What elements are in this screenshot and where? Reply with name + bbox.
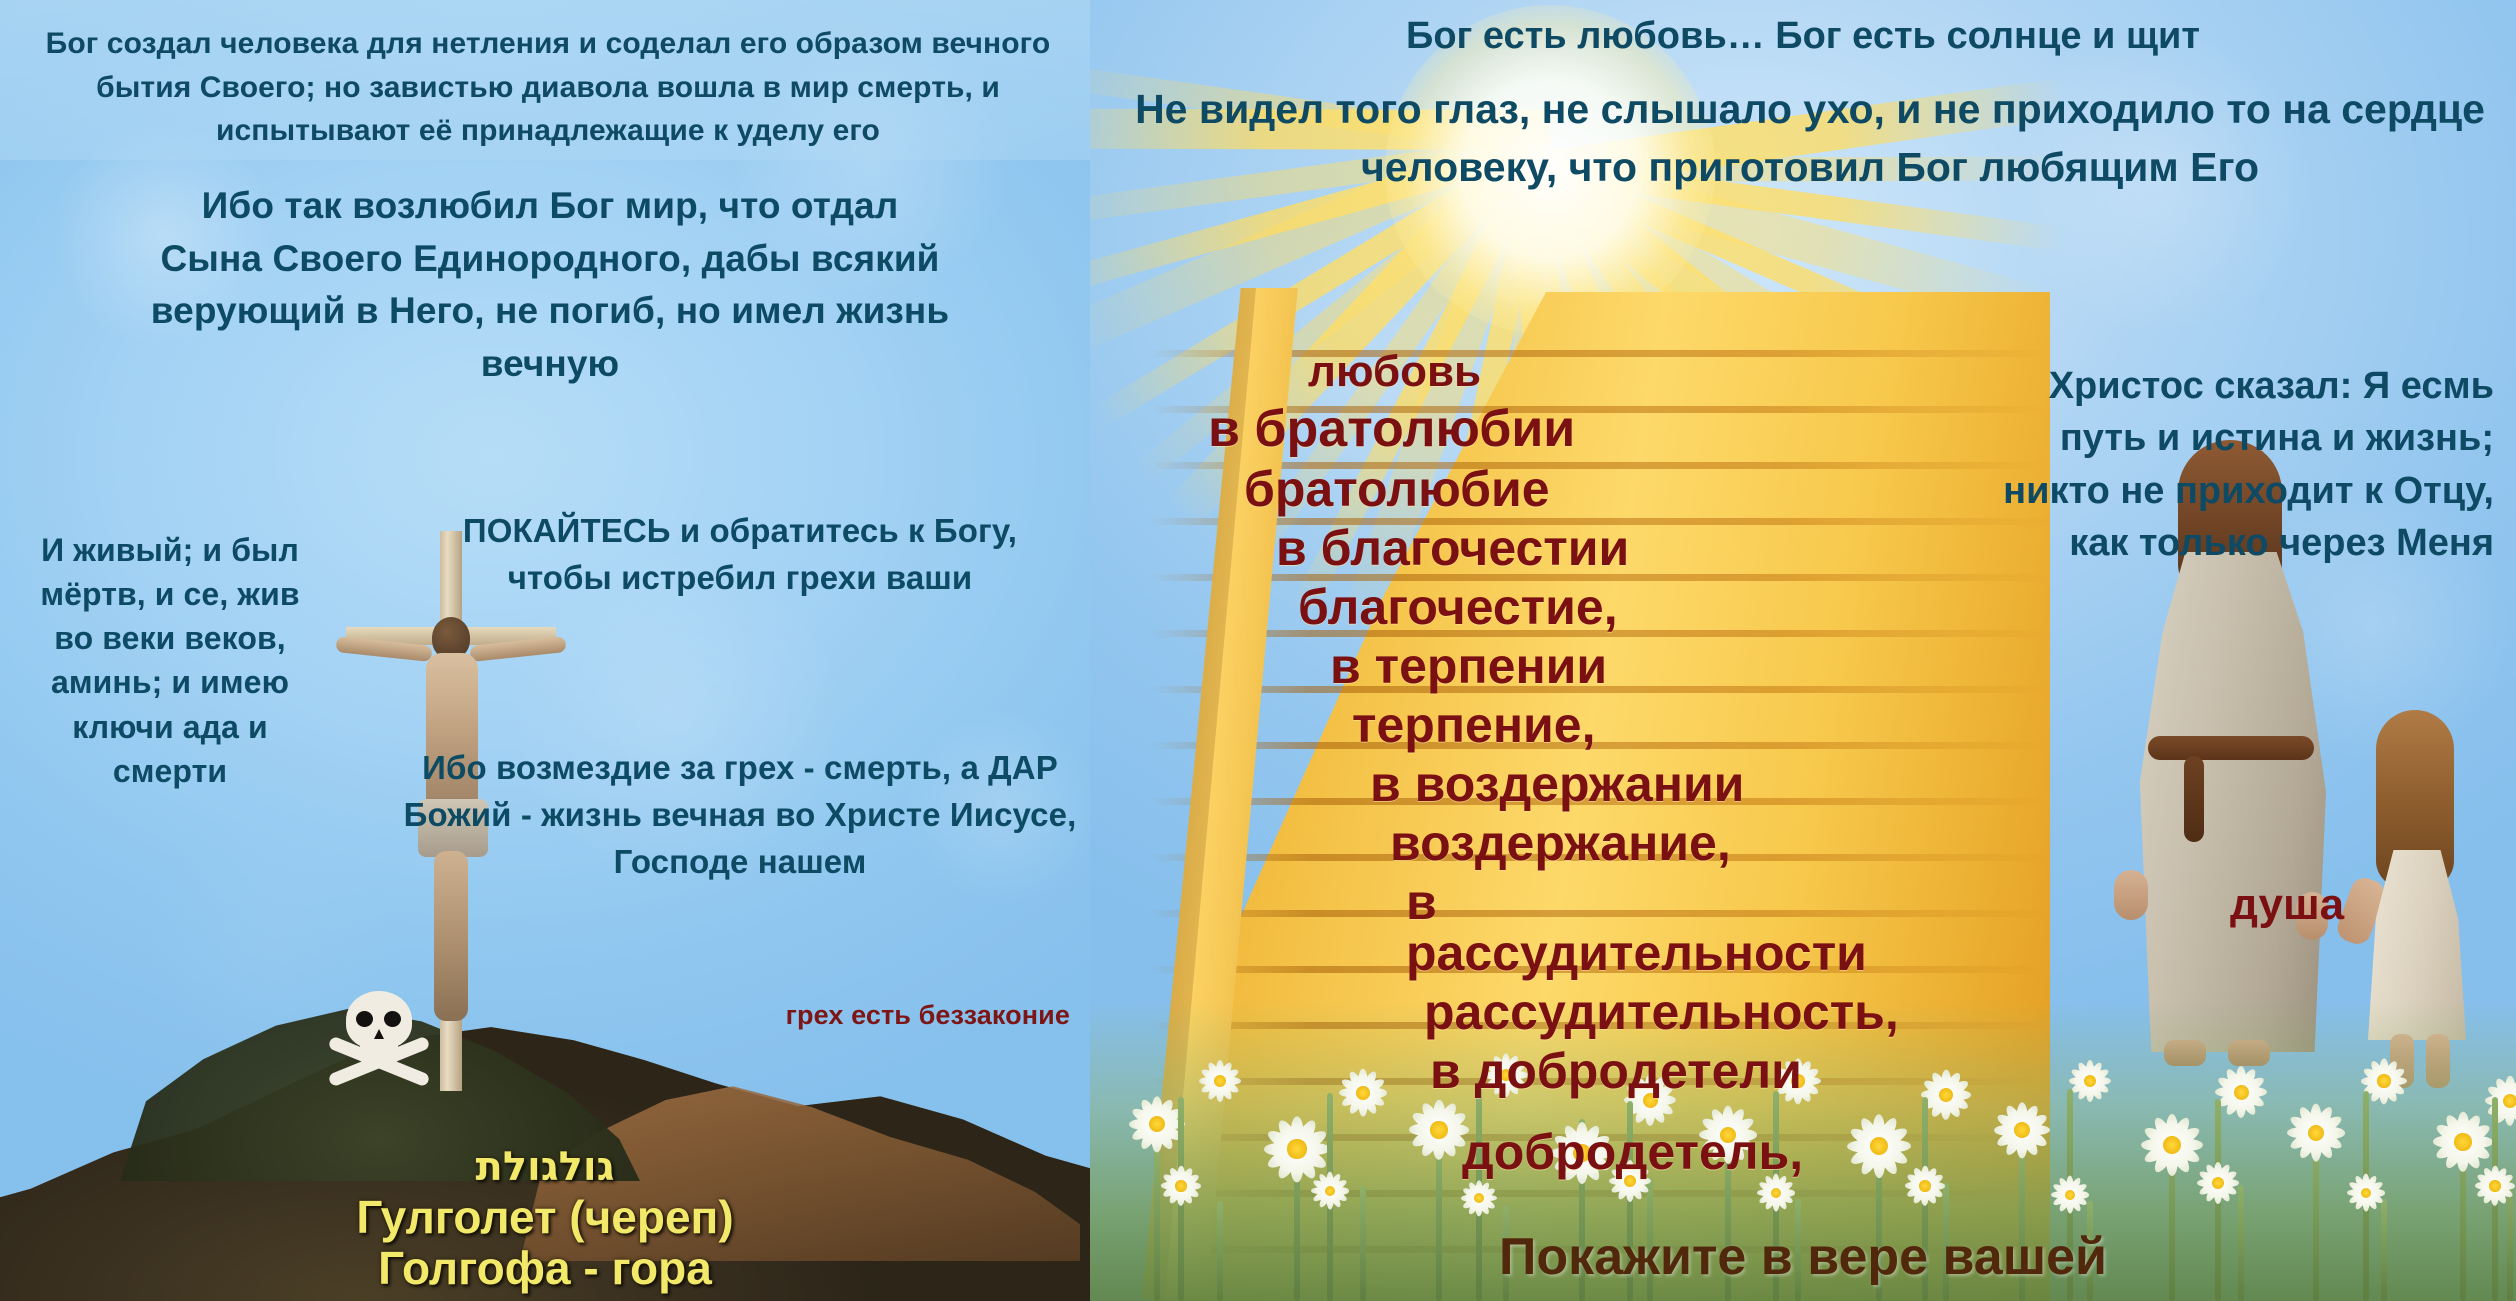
daisy-center xyxy=(1919,1180,1930,1191)
daisy-flower xyxy=(2216,1067,2266,1117)
daisy-flower xyxy=(2434,1113,2492,1171)
label-soul: душа xyxy=(2230,880,2344,930)
skull-jaw xyxy=(360,1043,398,1061)
daisy-center xyxy=(2212,1177,2224,1189)
daisy-flower xyxy=(2476,1167,2514,1205)
golgotha-hebrew-label: גולגולת xyxy=(0,1145,1090,1190)
verse-repent-text: ПОКАЙТЕСЬ и обратитесь к Богу, чтобы ист… xyxy=(420,508,1060,602)
virtue-step: в добродетели xyxy=(1430,1046,1880,1097)
verse-eye-has-not-seen-text: Не видел того глаз, не слышало ухо, и не… xyxy=(1120,80,2500,196)
verse-john-3-16-text: Ибо так возлюбил Бог мир, что отдал Сына… xyxy=(150,180,950,390)
jesus-robe xyxy=(2136,552,2326,1052)
virtue-step: в братолюбии xyxy=(1208,403,1880,456)
virtue-step: рассудительность, xyxy=(1424,987,1880,1038)
daisy-flower xyxy=(2288,1105,2344,1161)
virtue-step: братолюбие xyxy=(1244,464,1880,515)
daisy-center xyxy=(2489,1180,2500,1191)
daisy-flower xyxy=(1312,1173,1348,1209)
virtue-step: терпение, xyxy=(1352,700,1880,751)
daisy-flower xyxy=(1758,1175,1794,1211)
virtue-step: в рассудительности xyxy=(1406,877,1880,979)
golgotha-transliteration-label: Гулголет (череп) xyxy=(0,1192,1090,1244)
daisy-flower xyxy=(1906,1167,1944,1205)
daisy-center xyxy=(2454,1133,2471,1150)
verse-alive-text: И живый; и был мёртв, и се, жив во веки … xyxy=(38,528,302,793)
verse-sin-is-lawlessness-text: грех есть беззаконие xyxy=(600,1000,1070,1032)
skull-eye-right xyxy=(384,1011,401,1027)
verse-corruption-text: Бог создал человека для нетления и содел… xyxy=(28,22,1068,153)
daisy-center xyxy=(2014,1122,2030,1138)
daisy-center xyxy=(2377,1074,2390,1087)
daisy-center xyxy=(1149,1116,1165,1132)
golgotha-mountain-label: Голгофа - гора xyxy=(0,1243,1090,1295)
virtue-step: в благочестии xyxy=(1276,523,1880,574)
daisy-center xyxy=(2084,1075,2096,1087)
daisy-flower xyxy=(1130,1097,1184,1151)
daisy-flower xyxy=(2486,1077,2516,1125)
virtue-step: в терпении xyxy=(1330,641,1880,692)
daisy-flower xyxy=(2070,1061,2110,1101)
left-panel: Бог создал человека для нетления и содел… xyxy=(0,0,1090,1301)
virtue-step: любовь xyxy=(1308,350,1880,395)
jesus-left-hand xyxy=(2114,870,2148,920)
daisy-flower xyxy=(2052,1177,2088,1213)
daisy-flower xyxy=(1462,1181,1496,1215)
jesus-sash xyxy=(2148,736,2314,760)
daisy-flower xyxy=(2348,1175,2384,1211)
daisy-center xyxy=(2234,1085,2249,1100)
daisy-flower xyxy=(2198,1163,2238,1203)
jesus-sash-tail xyxy=(2184,756,2204,842)
right-panel: Бог есть любовь… Бог есть солнце и щит Н… xyxy=(1090,0,2516,1301)
verse-wages-of-sin-text: Ибо возмездие за грех - смерть, а ДАР Бо… xyxy=(400,745,1080,886)
virtue-step: благочестие, xyxy=(1298,582,1880,633)
virtue-step: в воздержании xyxy=(1370,759,1880,810)
virtue-ladder-list: любовьв братолюбиибратолюбиев благочести… xyxy=(1180,350,1880,1178)
heading-god-is-love: Бог есть любовь… Бог есть солнце и щит xyxy=(1090,12,2516,61)
skull-and-crossbones-icon xyxy=(320,991,440,1111)
daisy-center xyxy=(2503,1094,2516,1108)
daisy-center xyxy=(1175,1180,1186,1191)
golgotha-caption-block: גולגולת Гулголет (череп) Голгофа - гора xyxy=(0,1145,1090,1295)
bottom-call-to-action: Покажите в вере вашей xyxy=(1090,1227,2516,1287)
daisy-flower xyxy=(1995,1103,2049,1157)
poster-canvas: Бог создал человека для нетления и содел… xyxy=(0,0,2516,1301)
virtue-step: воздержание, xyxy=(1390,818,1880,869)
daisy-flower xyxy=(1922,1071,1970,1119)
verse-christ-said-text: Христос сказал: Я есмь путь и истина и ж… xyxy=(1974,360,2494,570)
skull-eye-left xyxy=(356,1011,373,1027)
daisy-center xyxy=(2163,1136,2181,1154)
virtue-step: добродетель, xyxy=(1462,1127,1880,1178)
daisy-flower xyxy=(2142,1115,2202,1175)
